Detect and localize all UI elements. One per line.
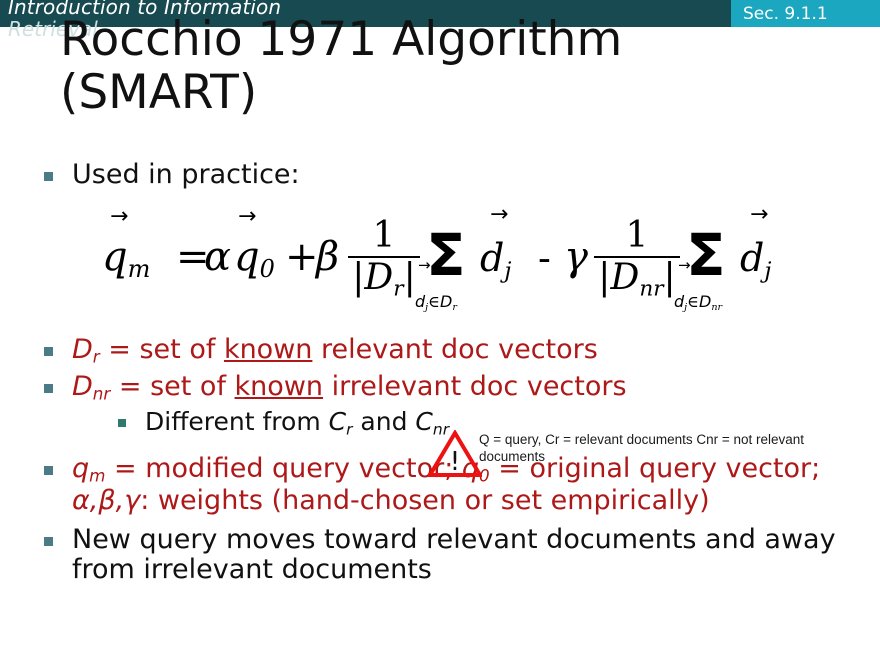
formula-fraction-dr: 1 |Dr| [348, 218, 420, 301]
variable-qm: q [72, 453, 89, 484]
formula-qm-var: q [102, 234, 128, 280]
bullet-used-in-practice-label: Used in practice: [72, 160, 880, 191]
formula-dj2-var: d [740, 236, 764, 280]
exclamation-mark-icon: ! [450, 447, 460, 477]
vector-arrow-icon: → [678, 256, 691, 274]
variable-dr-subscript: r [93, 346, 100, 366]
variable-qm-subscript: m [89, 466, 105, 486]
qm-text-3: : weights (hand-chosen or set empiricall… [140, 485, 710, 516]
sigma2-D: D [699, 292, 711, 311]
sigma2-element-of: ∈ [687, 292, 699, 311]
bullet-marker-icon [44, 384, 53, 393]
formula-frac1-D: D [364, 257, 393, 298]
abs-bar-open: | [598, 257, 610, 298]
vector-arrow-icon: → [750, 202, 768, 227]
warning-triangle-icon: ! [428, 430, 482, 478]
formula-dj-1: dj [480, 236, 511, 284]
variable-dnr-subscript: nr [93, 384, 111, 404]
qm-text-1: = modified query vector; [105, 453, 461, 484]
sigma1-D-sub: r [452, 302, 457, 313]
sigma2-d: d [674, 292, 684, 311]
formula-minus: - [538, 236, 551, 280]
formula-plus: + [285, 234, 319, 280]
variable-dr: D [72, 334, 93, 365]
dr-underlined-known: known [224, 334, 312, 365]
formula-frac1-denominator: |Dr| [348, 259, 420, 301]
formula-frac1-D-sub: r [393, 276, 403, 301]
page-title: Rocchio 1971 Algorithm (SMART) [60, 14, 860, 119]
bullet-new-query-moves-label: New query moves toward relevant document… [72, 525, 880, 586]
variable-dnr: D [72, 371, 93, 402]
bullet-marker-icon [44, 347, 53, 356]
vector-arrow-icon: → [418, 256, 431, 274]
sigma2-D-sub: nr [711, 302, 722, 313]
formula-sigma-2-subscript: dj∈Dnr [674, 292, 722, 313]
formula-frac2-denominator: |Dnr| [594, 259, 680, 301]
bullet-dnr-definition-label: Dnr = set of known irrelevant doc vector… [72, 372, 880, 404]
greek-weights: α,β,γ [72, 485, 140, 516]
dr-text-a: = set of [100, 334, 224, 365]
sigma1-element-of: ∈ [428, 292, 440, 311]
sigma1-d: d [415, 292, 425, 311]
bullet-new-query-moves: New query moves toward relevant document… [0, 525, 880, 586]
vector-arrow-icon: → [238, 204, 256, 229]
variable-cr: C [329, 407, 346, 436]
formula-sigma-2: Σ [686, 226, 726, 284]
formula-qm-sub: m [128, 255, 151, 283]
vector-arrow-icon: → [110, 204, 128, 229]
formula-beta: β [316, 234, 339, 280]
formula-dj-2: dj [740, 236, 771, 284]
bullet-dnr-definition: Dnr = set of known irrelevant doc vector… [0, 372, 880, 404]
formula-dj1-sub: j [504, 258, 511, 284]
dnr-text-a: = set of [110, 371, 234, 402]
formula-frac2-numerator: 1 [594, 218, 680, 254]
sub-bullet-marker-icon [118, 419, 126, 427]
formula-frac1-numerator: 1 [348, 218, 420, 254]
formula-fraction-dnr: 1 |Dnr| [594, 218, 680, 301]
annotation-note: Q = query, Cr = relevant documents Cnr =… [479, 431, 851, 466]
formula-q0: q0 [234, 234, 275, 283]
formula-frac2-D: D [610, 257, 639, 298]
vector-arrow-icon: → [490, 202, 508, 227]
formula-q0-var: q [234, 234, 260, 280]
bullet-dr-definition: Dr = set of known relevant doc vectors [0, 335, 880, 367]
sigma1-D: D [440, 292, 452, 311]
formula-frac2-D-sub: nr [639, 276, 663, 301]
different-lead-text: Different from [145, 407, 329, 436]
bullet-marker-icon [44, 172, 53, 181]
formula-sigma-1-subscript: dj∈Dr [415, 292, 457, 313]
formula-sigma-1: Σ [426, 226, 466, 284]
formula-alpha: α [204, 234, 231, 280]
rocchio-formula: → qm = α → q0 + β 1 |Dr| Σ dj∈Dr → → dj … [98, 198, 838, 333]
bullet-marker-icon [44, 537, 53, 546]
formula-qm: qm [102, 234, 150, 283]
dnr-text-b: irrelevant doc vectors [323, 371, 627, 402]
formula-q0-sub: 0 [260, 255, 275, 283]
dr-text-b: relevant doc vectors [312, 334, 597, 365]
formula-gamma: γ [564, 234, 588, 280]
abs-bar-close: | [404, 257, 416, 298]
different-mid-text: and [352, 407, 415, 436]
abs-bar-open: | [352, 257, 364, 298]
formula-dj2-sub: j [764, 258, 771, 284]
dnr-underlined-known: known [235, 371, 323, 402]
bullet-used-in-practice: Used in practice: [0, 160, 880, 191]
bullet-marker-icon [44, 466, 53, 475]
bullet-dr-definition-label: Dr = set of known relevant doc vectors [72, 335, 880, 367]
formula-dj1-var: d [480, 236, 504, 280]
